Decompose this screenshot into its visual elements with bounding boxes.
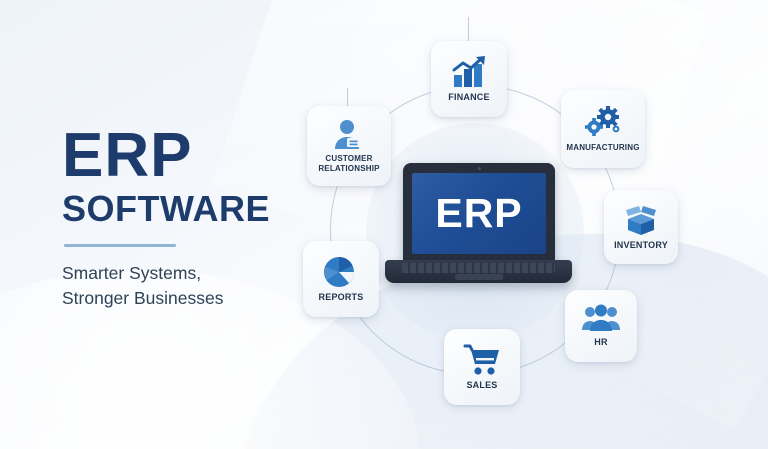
module-card-customer-relationship[interactable]: CUSTOMER RELATIONSHIP	[307, 106, 391, 186]
title-divider	[64, 244, 176, 247]
module-label-sales: SALES	[466, 380, 497, 390]
module-label-manufacturing: MANUFACTURING	[566, 143, 639, 152]
module-label-crm-line1: CUSTOMER	[325, 154, 372, 163]
module-label-finance: FINANCE	[448, 92, 489, 102]
module-card-inventory[interactable]: INVENTORY	[604, 190, 678, 264]
laptop-screen-label: ERP	[435, 193, 522, 234]
module-label-reports: REPORTS	[319, 292, 364, 302]
erp-infographic-banner: ERP SOFTWARE Smarter Systems, Stronger B…	[0, 0, 768, 449]
connector-stem-crm	[347, 88, 348, 108]
module-card-hr[interactable]: HR	[565, 290, 637, 362]
shopping-cart-icon	[462, 343, 502, 377]
module-card-finance[interactable]: FINANCE	[431, 41, 507, 117]
laptop-lid: ERP	[403, 163, 555, 262]
connector-stem-finance	[468, 17, 469, 43]
laptop-trackpad	[455, 274, 503, 280]
module-card-reports[interactable]: REPORTS	[303, 241, 379, 317]
module-label-inventory: INVENTORY	[614, 240, 668, 250]
laptop-keyboard	[402, 263, 555, 273]
page-title-software: SOFTWARE	[62, 190, 362, 228]
laptop-base	[385, 260, 572, 283]
bar-chart-growth-icon	[449, 55, 489, 89]
central-laptop: ERP	[385, 163, 572, 293]
gears-icon	[583, 106, 623, 140]
user-card-icon	[331, 119, 367, 151]
people-group-icon	[581, 304, 621, 334]
module-label-crm-line2: RELATIONSHIP	[318, 164, 379, 173]
pie-chart-icon	[322, 255, 360, 289]
module-label-hr: HR	[594, 337, 607, 347]
laptop-screen: ERP	[412, 173, 546, 254]
module-card-sales[interactable]: SALES	[444, 329, 520, 405]
module-card-manufacturing[interactable]: MANUFACTURING	[561, 90, 645, 168]
open-box-icon	[622, 203, 660, 237]
laptop-camera-icon	[478, 167, 481, 170]
